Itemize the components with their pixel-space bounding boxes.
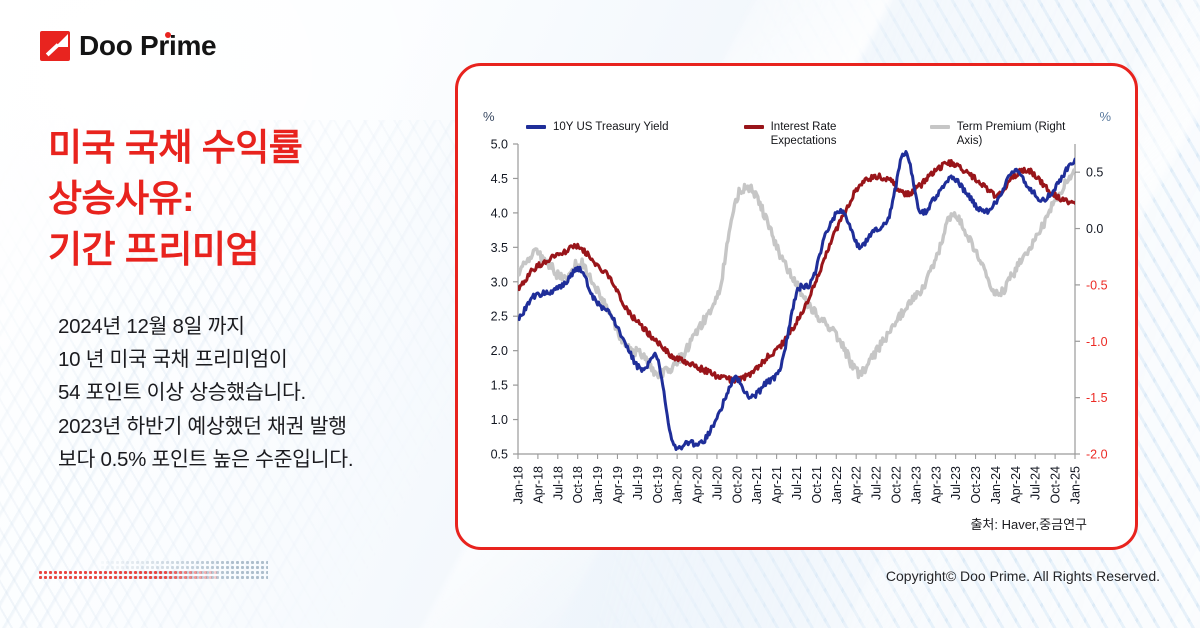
- body-line-3: 54 포인트 이상 상승했습니다.: [58, 376, 458, 409]
- svg-text:-0.5: -0.5: [1086, 278, 1108, 292]
- svg-text:Oct-20: Oct-20: [730, 466, 744, 504]
- chart-card: % % 10Y US Treasury Yield Interest Rate …: [455, 63, 1138, 550]
- svg-text:4.5: 4.5: [491, 172, 508, 186]
- svg-text:Jan-21: Jan-21: [750, 466, 764, 504]
- svg-text:3.5: 3.5: [491, 241, 508, 255]
- svg-text:Jan-25: Jan-25: [1069, 466, 1083, 504]
- svg-text:Oct-21: Oct-21: [810, 466, 824, 504]
- svg-text:Apr-22: Apr-22: [850, 466, 864, 504]
- headline-line-2: 상승사유:: [48, 173, 448, 224]
- svg-text:-1.5: -1.5: [1086, 391, 1108, 405]
- headline-line-1: 미국 국채 수익률: [48, 122, 448, 173]
- svg-text:Jul-18: Jul-18: [551, 466, 565, 500]
- svg-text:Jan-23: Jan-23: [909, 466, 923, 504]
- svg-text:Apr-19: Apr-19: [611, 466, 625, 504]
- chart-source-note: 출처: Haver,중금연구: [970, 514, 1087, 533]
- body-line-2: 10 년 미국 국채 프리미엄이: [58, 343, 458, 376]
- copyright-notice: Copyright© Doo Prime. All Rights Reserve…: [886, 568, 1160, 584]
- svg-text:-2.0: -2.0: [1086, 448, 1108, 462]
- svg-text:Jul-19: Jul-19: [631, 466, 645, 500]
- svg-text:Apr-18: Apr-18: [531, 466, 545, 504]
- svg-text:0.5: 0.5: [1086, 166, 1103, 180]
- body-line-1: 2024년 12월 8일 까지: [58, 310, 458, 343]
- svg-text:Jan-20: Jan-20: [671, 466, 685, 504]
- svg-text:Oct-19: Oct-19: [651, 466, 665, 504]
- doo-prime-mark-icon: [40, 31, 70, 61]
- svg-text:Apr-21: Apr-21: [770, 466, 784, 504]
- poster-canvas: Doo Prime 미국 국채 수익률 상승사유: 기간 프리미엄 2024년 …: [0, 0, 1200, 628]
- svg-text:2.5: 2.5: [491, 310, 508, 324]
- svg-text:3.0: 3.0: [491, 275, 508, 289]
- brand-name: Doo Prime: [79, 30, 216, 62]
- svg-text:1.0: 1.0: [491, 413, 508, 427]
- svg-text:Jan-19: Jan-19: [591, 466, 605, 504]
- svg-text:Jul-22: Jul-22: [870, 466, 884, 500]
- svg-text:Oct-23: Oct-23: [969, 466, 983, 504]
- svg-text:5.0: 5.0: [491, 138, 508, 152]
- decorative-dots-grey: [100, 560, 268, 580]
- svg-text:-1.0: -1.0: [1086, 335, 1108, 349]
- svg-text:0.5: 0.5: [491, 448, 508, 462]
- svg-text:Oct-22: Oct-22: [889, 466, 903, 504]
- svg-text:Jan-18: Jan-18: [512, 466, 526, 504]
- decorative-dot-pattern: [38, 558, 268, 592]
- svg-text:Apr-24: Apr-24: [1009, 466, 1023, 504]
- svg-text:Apr-20: Apr-20: [691, 466, 705, 504]
- decorative-dots-red: [38, 570, 218, 581]
- brand-logo: Doo Prime: [40, 30, 216, 62]
- body-line-4: 2023년 하반기 예상했던 채권 발행: [58, 410, 458, 443]
- svg-text:Jul-24: Jul-24: [1029, 466, 1043, 500]
- svg-text:Oct-18: Oct-18: [571, 466, 585, 504]
- svg-text:Jul-20: Jul-20: [710, 466, 724, 500]
- svg-text:4.0: 4.0: [491, 206, 508, 220]
- svg-text:2.0: 2.0: [491, 344, 508, 358]
- svg-text:Apr-23: Apr-23: [929, 466, 943, 504]
- svg-text:Oct-24: Oct-24: [1049, 466, 1063, 504]
- body-copy: 2024년 12월 8일 까지 10 년 미국 국채 프리미엄이 54 포인트 …: [58, 310, 458, 476]
- brand-name-text: Doo Prime: [79, 30, 216, 61]
- svg-text:Jan-22: Jan-22: [830, 466, 844, 504]
- svg-text:Jan-24: Jan-24: [989, 466, 1003, 504]
- headline: 미국 국채 수익률 상승사유: 기간 프리미엄: [48, 122, 448, 275]
- body-line-5: 보다 0.5% 포인트 높은 수준입니다.: [58, 443, 458, 476]
- headline-line-3: 기간 프리미엄: [48, 224, 448, 275]
- svg-text:Jul-21: Jul-21: [790, 466, 804, 500]
- svg-text:0.0: 0.0: [1086, 222, 1103, 236]
- svg-text:1.5: 1.5: [491, 379, 508, 393]
- svg-text:Jul-23: Jul-23: [949, 466, 963, 500]
- line-chart: 0.51.01.52.02.53.03.54.04.55.0-2.0-1.5-1…: [458, 66, 1135, 547]
